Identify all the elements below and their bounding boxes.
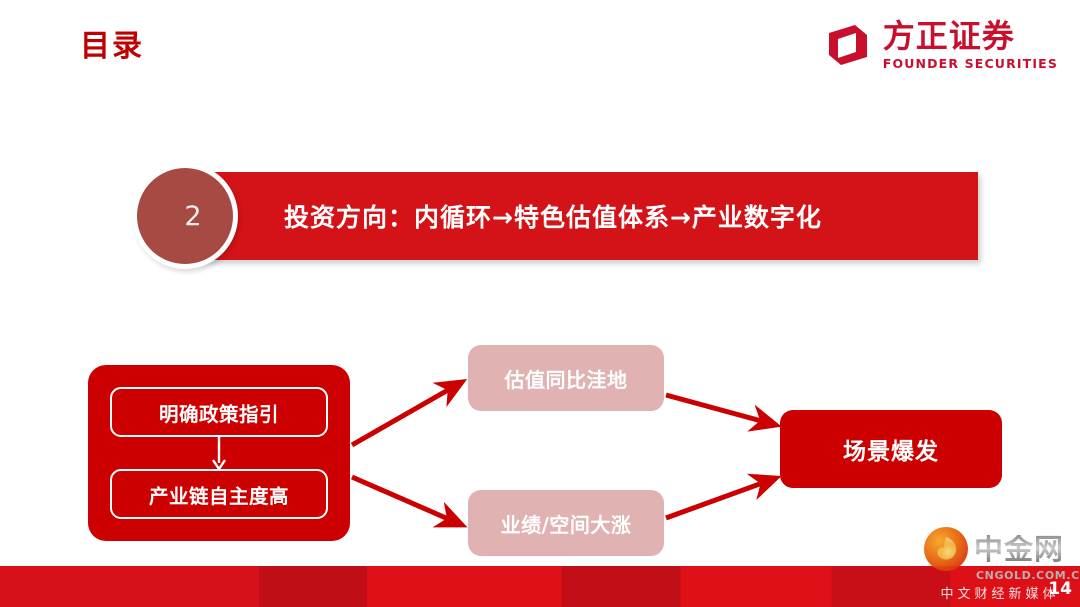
arrow-policy-to-performance bbox=[352, 477, 462, 525]
node-valuation-lowland: 估值同比洼地 bbox=[468, 345, 664, 411]
page-title: 目录 bbox=[80, 32, 144, 62]
logo-chinese-name: 方正证券 bbox=[883, 20, 1058, 53]
arrow-policy-to-valuation bbox=[352, 382, 462, 445]
down-arrow-icon bbox=[110, 437, 328, 471]
flow-diagram: 明确政策指引 产业链自主度高 估值同比洼地 业绩/空间大涨 场景爆发 bbox=[0, 300, 1080, 570]
logo-english-name: FOUNDER SECURITIES bbox=[883, 56, 1058, 71]
node-scenario-explosion: 场景爆发 bbox=[780, 410, 1002, 488]
section-banner-title: 投资方向：内循环→特色估值体系→产业数字化 bbox=[284, 172, 822, 260]
page-number: 14 bbox=[1048, 579, 1072, 599]
section-number-badge: 2 bbox=[132, 163, 238, 269]
cngold-flame-logo-icon bbox=[924, 527, 968, 571]
arrow-valuation-to-scenario bbox=[666, 395, 776, 425]
node-performance-surge: 业绩/空间大涨 bbox=[468, 490, 664, 556]
watermark-brand: 中金网 bbox=[974, 535, 1064, 564]
founder-diamond-logo-icon bbox=[825, 22, 871, 68]
section-number: 2 bbox=[184, 201, 201, 232]
policy-item-supply-chain: 产业链自主度高 bbox=[110, 469, 328, 519]
footer-bar bbox=[0, 566, 1080, 607]
policy-item-guidance: 明确政策指引 bbox=[110, 387, 328, 437]
policy-group-card: 明确政策指引 产业链自主度高 bbox=[88, 365, 350, 541]
section-banner: 投资方向：内循环→特色估值体系→产业数字化 2 bbox=[132, 172, 978, 260]
company-logo: 方正证券 FOUNDER SECURITIES bbox=[825, 20, 1058, 71]
slide-root: 目录 方正证券 FOUNDER SECURITIES 投资方向：内循环→特色估值… bbox=[0, 0, 1080, 607]
arrow-performance-to-scenario bbox=[666, 478, 776, 518]
